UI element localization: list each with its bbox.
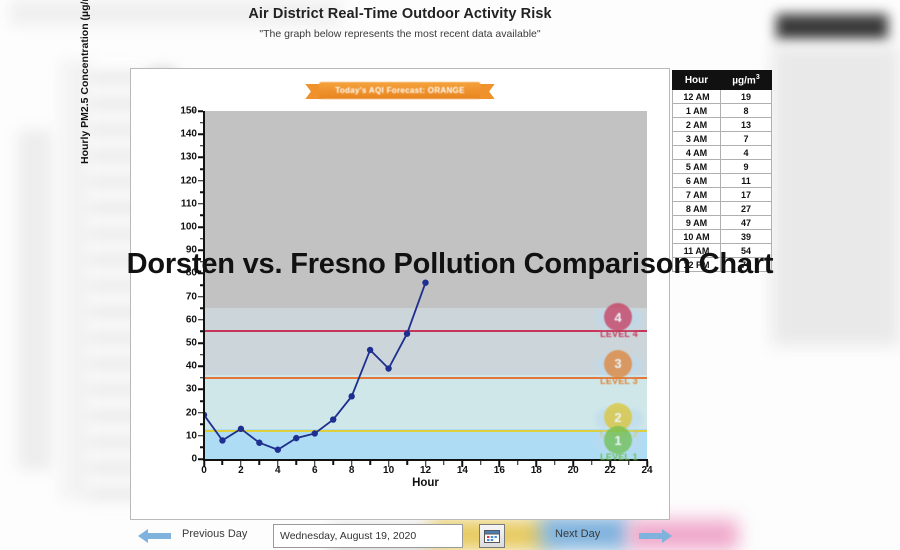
x-tick-mark [277, 461, 279, 467]
y-tick-mark [198, 157, 203, 159]
table-cell-hour: 7 AM [673, 188, 721, 202]
table-cell-value: 39 [721, 230, 772, 244]
y-tick-mark [198, 389, 203, 391]
table-row: 4 AM4 [673, 146, 772, 160]
previous-day-label[interactable]: Previous Day [182, 528, 247, 540]
y-tick-minor [200, 400, 203, 402]
table-row: 6 AM11 [673, 174, 772, 188]
table-cell-value: 17 [721, 188, 772, 202]
left-arrow-icon[interactable] [138, 528, 172, 544]
table-cell-hour: 3 AM [673, 132, 721, 146]
table-cell-value: 27 [721, 202, 772, 216]
x-tick-minor [369, 461, 371, 465]
y-tick-mark [198, 110, 203, 112]
right-arrow-icon[interactable] [638, 528, 672, 544]
y-tick-label: 30 [161, 384, 197, 395]
x-tick-mark [462, 461, 464, 467]
series-line [204, 111, 647, 459]
y-tick-label: 60 [161, 314, 197, 325]
y-axis-label: Hourly PM2.5 Concentration (µg/m3) [79, 0, 91, 164]
table-row: 10 AM39 [673, 230, 772, 244]
y-tick-label: 110 [161, 198, 197, 209]
y-tick-label: 140 [161, 129, 197, 140]
table-cell-value: 4 [721, 146, 772, 160]
y-tick-minor [200, 145, 203, 147]
next-day-label[interactable]: Next Day [555, 528, 600, 540]
level-badge-1: 1LEVEL 1 [595, 426, 643, 468]
y-tick-label: 20 [161, 407, 197, 418]
graph-card: Today's AQI Forecast: ORANGE ≡ 010203040… [130, 68, 670, 520]
y-tick-minor [200, 307, 203, 309]
table-col-header: µg/m3 [721, 71, 772, 90]
table-cell-hour: 12 AM [673, 90, 721, 104]
table-header-row: Hourµg/m3 [673, 71, 772, 90]
page-subtitle: "The graph below represents the most rec… [130, 28, 670, 40]
x-tick-minor [296, 461, 298, 465]
y-tick-label: 150 [161, 106, 197, 117]
table-row: 12 AM19 [673, 90, 772, 104]
x-tick-minor [332, 461, 334, 465]
x-tick-minor [480, 461, 482, 465]
table-cell-value: 13 [721, 118, 772, 132]
x-axis-label: Hour [204, 477, 647, 489]
y-tick-mark [198, 412, 203, 414]
table-row: 2 AM13 [673, 118, 772, 132]
table-row: 7 AM17 [673, 188, 772, 202]
table-cell-value: 47 [721, 216, 772, 230]
table-cell-hour: 9 AM [673, 216, 721, 230]
x-tick-mark [240, 461, 242, 467]
table-row: 1 AM8 [673, 104, 772, 118]
level-number-bubble: 3 [604, 350, 632, 378]
level-badge-4: 4LEVEL 4 [595, 303, 643, 345]
table-cell-hour: 1 AM [673, 104, 721, 118]
y-tick-minor [200, 377, 203, 379]
y-tick-mark [198, 365, 203, 367]
y-tick-minor [200, 191, 203, 193]
y-tick-mark [198, 458, 203, 460]
table-row: 3 AM7 [673, 132, 772, 146]
overlay-heading: Dorsten vs. Fresno Pollution Comparison … [0, 248, 900, 281]
table-row: 8 AM27 [673, 202, 772, 216]
chart-plot-area [204, 111, 647, 459]
x-tick-mark [572, 461, 574, 467]
table-cell-hour: 10 AM [673, 230, 721, 244]
x-tick-minor [517, 461, 519, 465]
table-row: 9 AM47 [673, 216, 772, 230]
y-tick-mark [198, 296, 203, 298]
y-tick-minor [200, 447, 203, 449]
x-tick-mark [646, 461, 648, 467]
table-cell-hour: 5 AM [673, 160, 721, 174]
table-cell-hour: 6 AM [673, 174, 721, 188]
y-tick-label: 40 [161, 361, 197, 372]
table-row: 5 AM9 [673, 160, 772, 174]
y-tick-minor [200, 354, 203, 356]
y-tick-minor [200, 423, 203, 425]
x-tick-mark [536, 461, 538, 467]
y-tick-label: 10 [161, 430, 197, 441]
ribbon-tail-right [479, 84, 495, 99]
page-header: Air District Real-Time Outdoor Activity … [130, 6, 670, 40]
table-cell-hour: 4 AM [673, 146, 721, 160]
y-tick-minor [200, 331, 203, 333]
y-tick-mark [198, 133, 203, 135]
y-tick-label: 100 [161, 222, 197, 233]
x-tick-minor [554, 461, 556, 465]
y-tick-label: 50 [161, 338, 197, 349]
y-tick-minor [200, 238, 203, 240]
level-label: LEVEL 3 [593, 376, 645, 386]
day-navigation: Previous Day Wednesday, August 19, 2020 … [130, 524, 690, 550]
y-tick-mark [198, 342, 203, 344]
level-label: LEVEL 4 [593, 329, 645, 339]
x-tick-mark [351, 461, 353, 467]
level-badge-3: 3LEVEL 3 [595, 350, 643, 392]
y-tick-minor [200, 215, 203, 217]
table-col-header: Hour [673, 71, 721, 90]
x-tick-mark [314, 461, 316, 467]
x-tick-minor [222, 461, 224, 465]
y-tick-mark [198, 180, 203, 182]
page-title: Air District Real-Time Outdoor Activity … [130, 6, 670, 22]
y-tick-label: 130 [161, 152, 197, 163]
y-tick-label: 0 [161, 454, 197, 465]
table-body: 12 AM191 AM82 AM133 AM74 AM45 AM96 AM117… [673, 90, 772, 272]
table-cell-value: 9 [721, 160, 772, 174]
y-tick-mark [198, 203, 203, 205]
table-cell-value: 11 [721, 174, 772, 188]
table-cell-value: 19 [721, 90, 772, 104]
hourly-data-table: Hourµg/m3 12 AM191 AM82 AM133 AM74 AM45 … [672, 70, 772, 272]
y-tick-mark [198, 319, 203, 321]
table-cell-value: 7 [721, 132, 772, 146]
x-tick-minor [259, 461, 261, 465]
table-cell-value: 8 [721, 104, 772, 118]
x-tick-mark [499, 461, 501, 467]
x-tick-minor [406, 461, 408, 465]
x-tick-mark [425, 461, 427, 467]
y-tick-minor [200, 122, 203, 124]
table-cell-hour: 2 AM [673, 118, 721, 132]
aqi-forecast-label: Today's AQI Forecast: ORANGE [319, 82, 480, 99]
aqi-forecast-ribbon: Today's AQI Forecast: ORANGE [319, 82, 480, 101]
y-tick-minor [200, 168, 203, 170]
calendar-icon[interactable] [479, 524, 505, 548]
y-tick-label: 70 [161, 291, 197, 302]
y-tick-minor [200, 284, 203, 286]
x-tick-mark [388, 461, 390, 467]
y-tick-mark [198, 435, 203, 437]
level-label: LEVEL 1 [593, 452, 645, 462]
x-tick-mark [203, 461, 205, 467]
y-axis-line [203, 111, 205, 460]
y-tick-label: 120 [161, 175, 197, 186]
x-tick-minor [443, 461, 445, 465]
y-tick-mark [198, 226, 203, 228]
table-cell-hour: 8 AM [673, 202, 721, 216]
date-input[interactable]: Wednesday, August 19, 2020 [273, 524, 463, 548]
